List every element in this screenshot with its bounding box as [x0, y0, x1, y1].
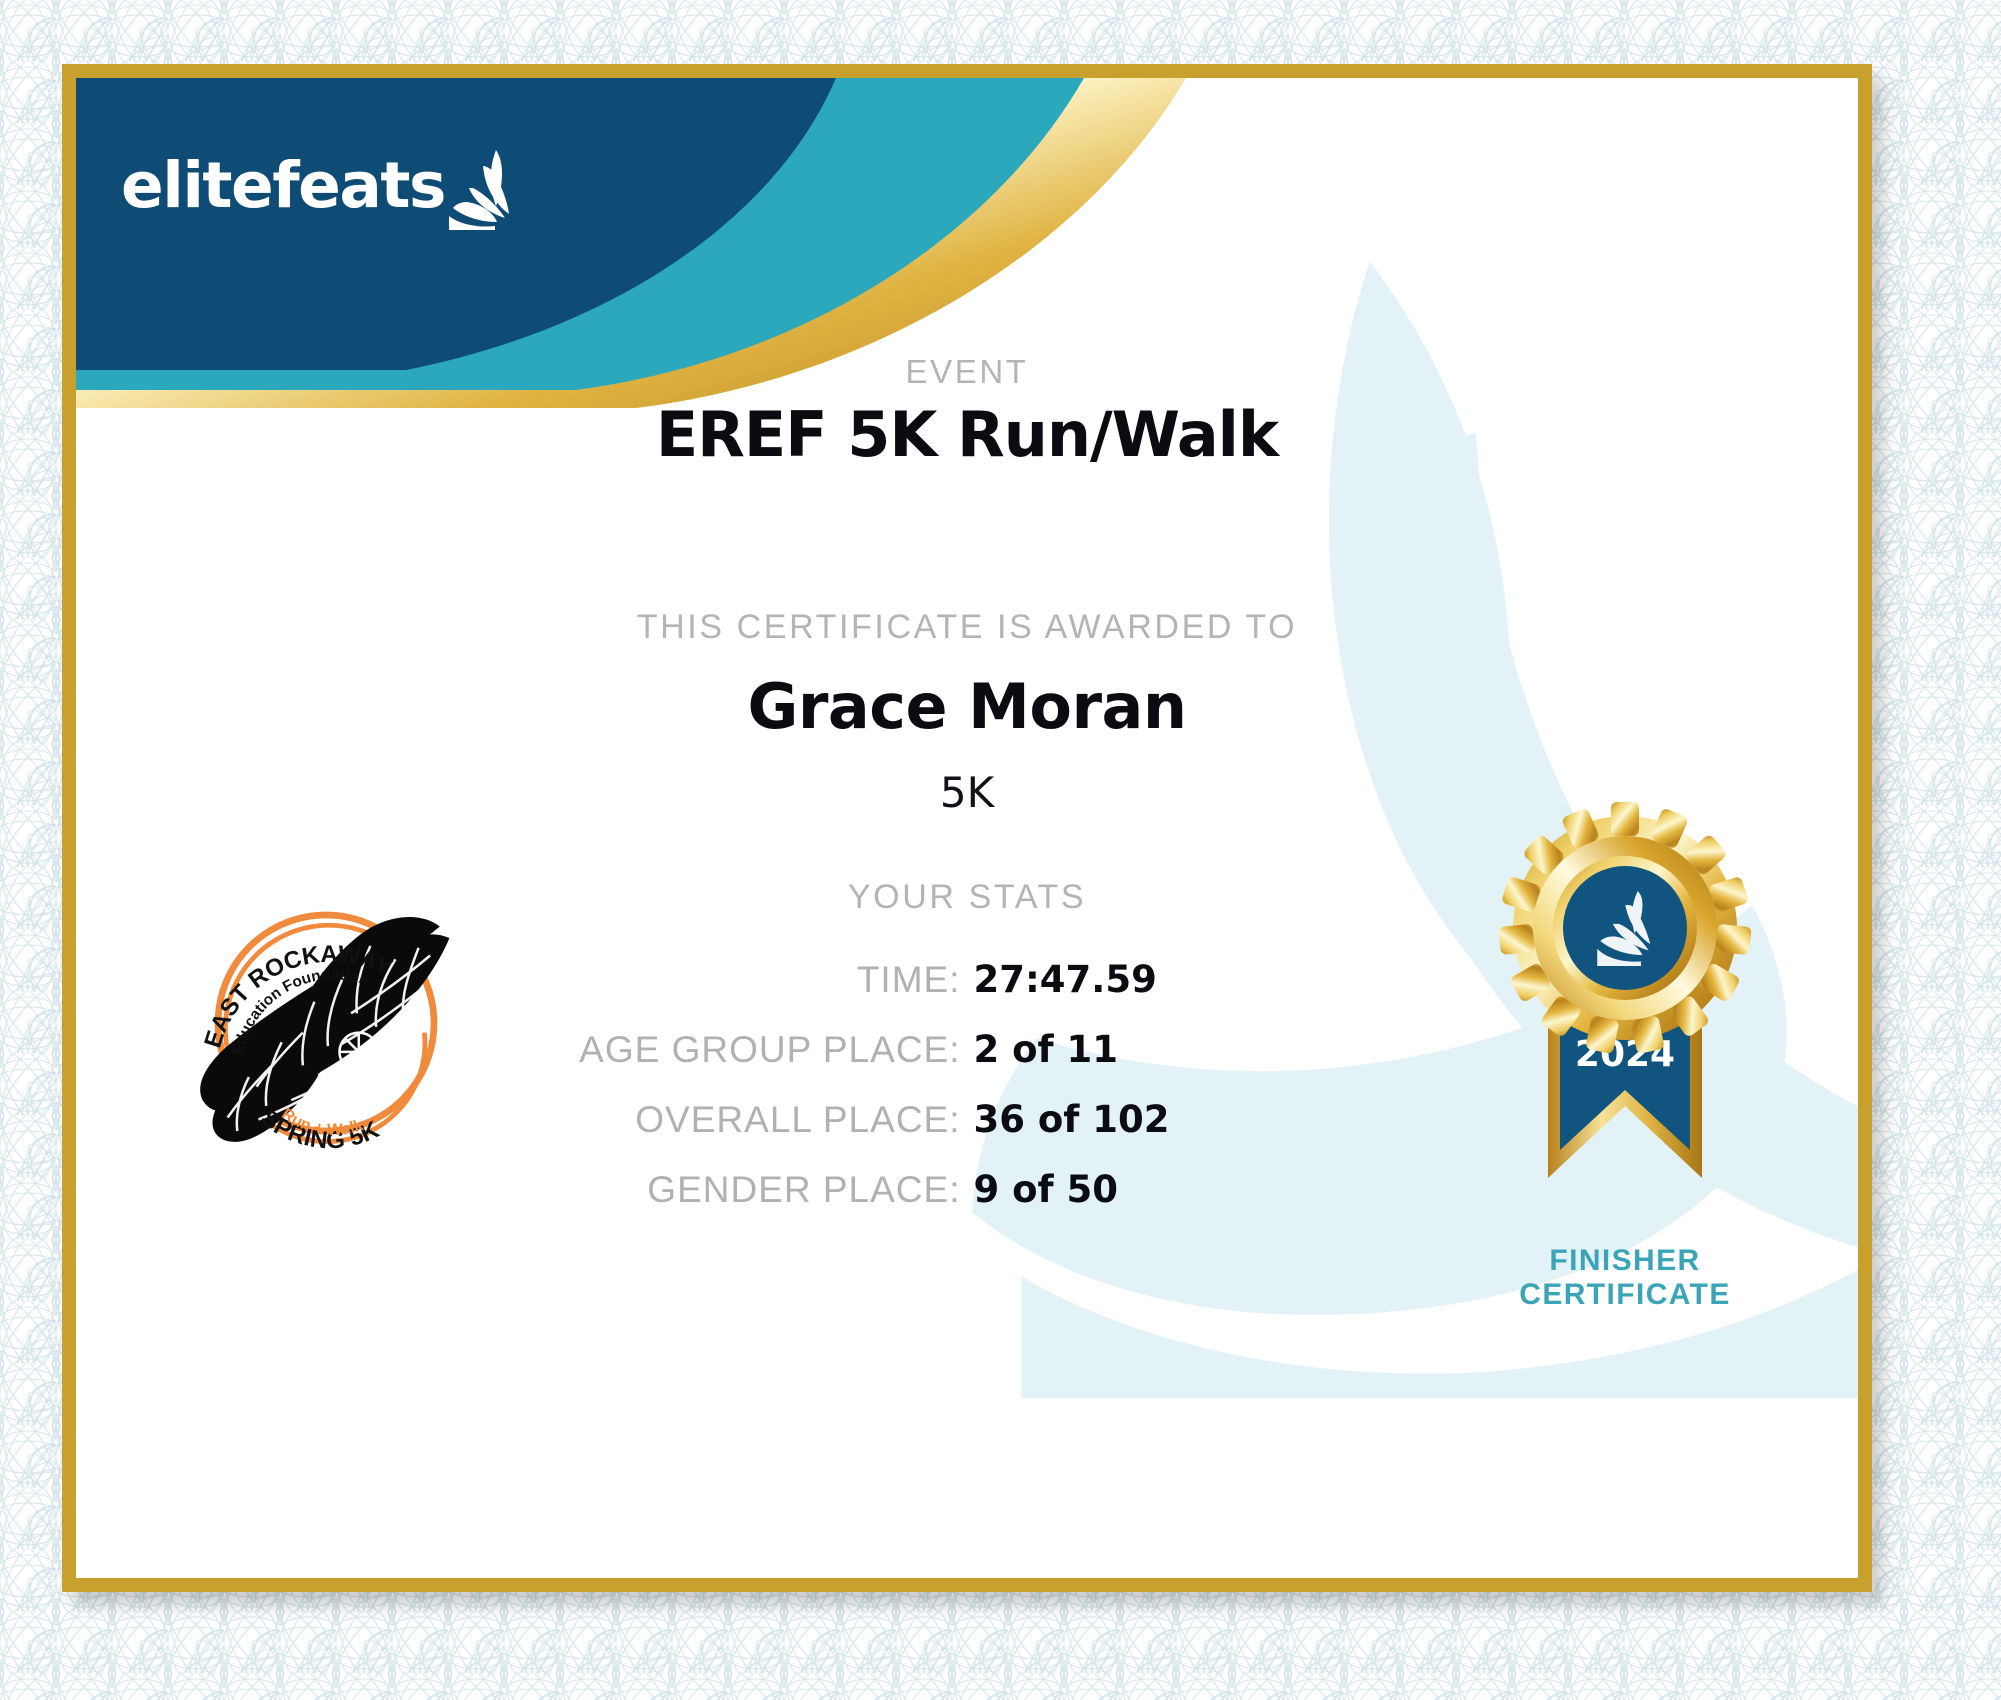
- stat-value: 36 of 102: [961, 1098, 1444, 1141]
- recipient-name: Grace Moran: [76, 670, 1858, 743]
- brand-wordmark: elitefeats: [121, 154, 445, 217]
- finisher-medal-block: 2024: [1470, 798, 1780, 1311]
- awarded-to-label: THIS CERTIFICATE IS AWARDED TO: [76, 608, 1858, 647]
- east-rockaway-spring-5k-logo: EAST ROCKAWAY Education Foundation SPRIN…: [181, 888, 471, 1158]
- stat-label: AGE GROUP PLACE:: [491, 1029, 961, 1071]
- certificate-card: elitefeats EVENT EREF 5K Run/Walk THIS C…: [62, 64, 1872, 1592]
- elitefeats-logo: elitefeats: [121, 140, 517, 230]
- stat-label: GENDER PLACE:: [491, 1169, 961, 1211]
- stat-value: 9 of 50: [961, 1168, 1444, 1211]
- event-title: EREF 5K Run/Walk: [76, 398, 1858, 471]
- event-kicker-label: EVENT: [76, 353, 1858, 391]
- winged-foot-icon: [439, 146, 517, 230]
- certificate-surface: elitefeats EVENT EREF 5K Run/Walk THIS C…: [76, 78, 1858, 1578]
- stat-label: TIME:: [491, 959, 961, 1001]
- finisher-medal: 2024: [1490, 798, 1760, 1238]
- finisher-caption-line2: CERTIFICATE: [1470, 1278, 1780, 1312]
- finisher-caption-line1: FINISHER: [1470, 1244, 1780, 1278]
- stat-value: 2 of 11: [961, 1028, 1444, 1071]
- stat-label: OVERALL PLACE:: [491, 1099, 961, 1141]
- stat-value: 27:47.59: [961, 958, 1444, 1001]
- finisher-certificate-caption: FINISHER CERTIFICATE: [1470, 1244, 1780, 1311]
